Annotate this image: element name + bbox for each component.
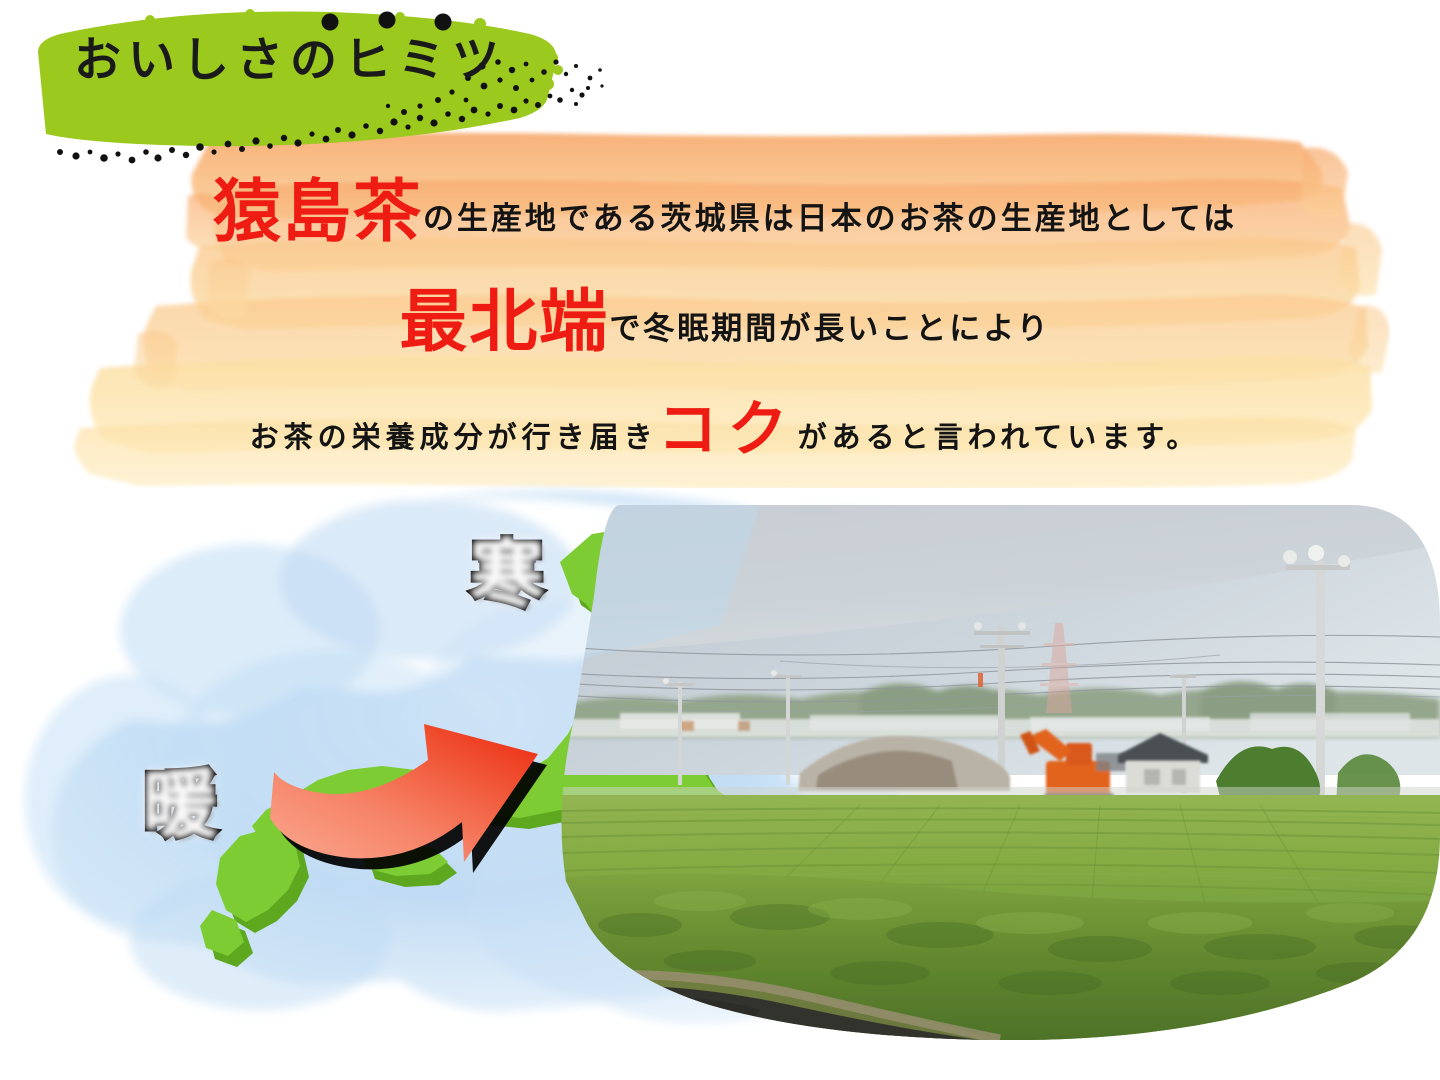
cold-label: 寒 — [470, 538, 544, 612]
tea-field-photo — [560, 505, 1440, 1040]
top-dot-3 — [435, 14, 452, 31]
top-dot-2 — [379, 12, 396, 29]
arrow-body — [270, 724, 538, 862]
headline-badge: おいしさのヒミツ — [0, 0, 620, 175]
headline-watercolor-background — [60, 128, 1390, 488]
warm-label: 暖 — [143, 768, 217, 842]
orange-brush-shape — [60, 128, 1390, 488]
top-dot-1 — [322, 14, 339, 31]
tea-field-photo-image — [560, 505, 1440, 1040]
badge-shape — [0, 0, 620, 175]
page-root: おいしさのヒミツ — [0, 0, 1440, 1080]
badge-label: おいしさのヒミツ — [74, 36, 544, 83]
warm-label-text: 暖 — [143, 768, 217, 842]
cold-label-text: 寒 — [470, 538, 544, 612]
